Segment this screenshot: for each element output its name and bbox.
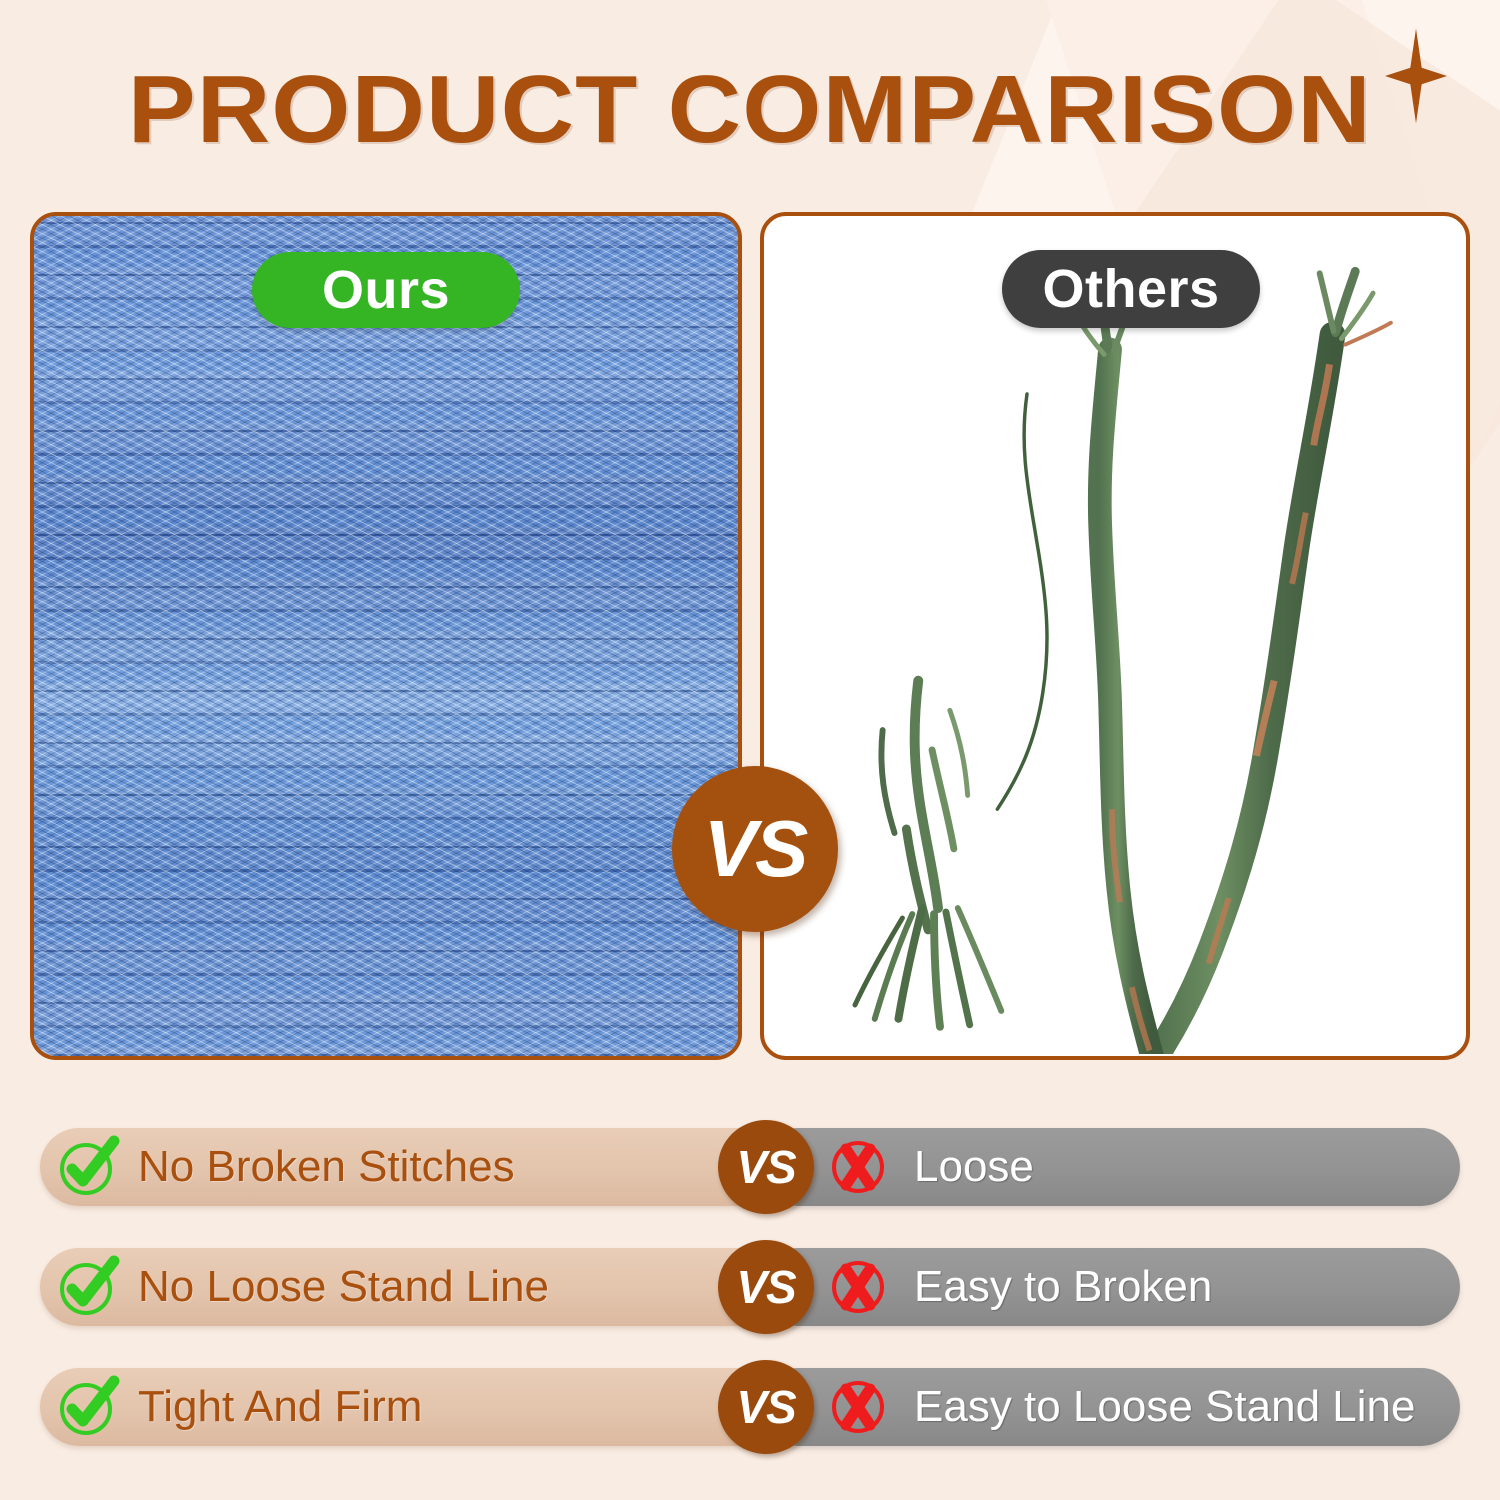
- page-title-wrapper: PRODUCT COMPARISON: [0, 62, 1500, 158]
- badge-ours: Ours: [252, 252, 520, 328]
- four-point-star-icon: [1385, 28, 1447, 124]
- comparison-ours-label: Tight And Firm: [138, 1382, 422, 1432]
- panel-ours[interactable]: Ours: [30, 212, 742, 1060]
- green-check-circle-icon: [50, 1135, 126, 1199]
- comparison-rows: No Broken Stitches VS Loose No Loos: [0, 1128, 1500, 1488]
- blue-thread-image: [34, 216, 738, 1056]
- comparison-row: Tight And Firm VS Easy to Loose Stand Li…: [0, 1368, 1500, 1446]
- vs-divider-badge: VS: [672, 766, 838, 932]
- comparison-ours-label: No Broken Stitches: [138, 1142, 515, 1192]
- comparison-others-label: Easy to Loose Stand Line: [914, 1382, 1415, 1432]
- red-x-circle-icon: [820, 1257, 896, 1317]
- comparison-row-others[interactable]: Easy to Loose Stand Line: [760, 1368, 1460, 1446]
- comparison-others-label: Loose: [914, 1142, 1034, 1192]
- comparison-panels: Ours: [0, 212, 1500, 1064]
- comparison-others-label: Easy to Broken: [914, 1262, 1212, 1312]
- comparison-row-ours[interactable]: Tight And Firm: [40, 1368, 790, 1446]
- comparison-row: No Loose Stand Line VS Easy to Broken: [0, 1248, 1500, 1326]
- comparison-ours-label: No Loose Stand Line: [138, 1262, 549, 1312]
- comparison-row-ours[interactable]: No Loose Stand Line: [40, 1248, 790, 1326]
- comparison-row-others[interactable]: Easy to Broken: [760, 1248, 1460, 1326]
- comparison-row: No Broken Stitches VS Loose: [0, 1128, 1500, 1206]
- comparison-row-others[interactable]: Loose: [760, 1128, 1460, 1206]
- badge-others: Others: [1002, 250, 1260, 328]
- page-title: PRODUCT COMPARISON: [128, 62, 1372, 158]
- row-vs-badge: VS: [718, 1360, 814, 1454]
- green-check-circle-icon: [50, 1375, 126, 1439]
- row-vs-badge: VS: [718, 1120, 814, 1214]
- frayed-green-cord-image: [764, 216, 1466, 1054]
- red-x-circle-icon: [820, 1137, 896, 1197]
- row-vs-badge: VS: [718, 1240, 814, 1334]
- green-check-circle-icon: [50, 1255, 126, 1319]
- panel-others[interactable]: Others: [760, 212, 1470, 1060]
- comparison-row-ours[interactable]: No Broken Stitches: [40, 1128, 790, 1206]
- red-x-circle-icon: [820, 1377, 896, 1437]
